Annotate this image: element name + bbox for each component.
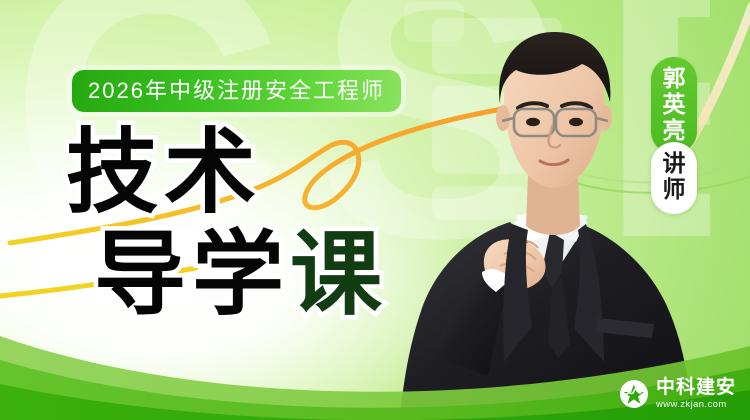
course-cover-banner: CSE: [0, 0, 750, 420]
brand-logo: 中科建安 www.zkjan.com: [619, 378, 736, 410]
brand-text: 中科建安 www.zkjan.com: [656, 378, 736, 410]
subtitle-badge: 2026年中级注册安全工程师: [72, 70, 401, 112]
instructor-name-char: 亮: [663, 118, 686, 144]
headline-line-1: 技术: [66, 128, 388, 218]
instructor-name-char: 英: [663, 92, 686, 118]
instructor-name-char: 郭: [663, 66, 686, 92]
decor-panel: [432, 186, 528, 220]
headline-line-2-accent: 课: [290, 224, 388, 326]
brand-name: 中科建安: [656, 378, 736, 398]
page-title: 技术 导学课: [66, 128, 388, 320]
shield-star-icon: [619, 379, 649, 409]
instructor-role-char: 讲: [663, 151, 686, 177]
subtitle-text: 2026年中级注册安全工程师: [88, 80, 385, 102]
instructor-role-pill: 讲 师: [651, 142, 697, 214]
instructor-name-pill: 郭 英 亮: [651, 57, 697, 154]
instructor-badge: 郭 英 亮 讲 师: [651, 57, 697, 214]
headline-line-2-plain: 导学: [94, 224, 290, 326]
decor-panel: [432, 18, 562, 74]
decor-panel: [432, 86, 540, 174]
headline-line-2: 导学课: [94, 230, 388, 320]
instructor-role-char: 师: [663, 177, 686, 203]
brand-url: www.zkjan.com: [656, 399, 736, 410]
